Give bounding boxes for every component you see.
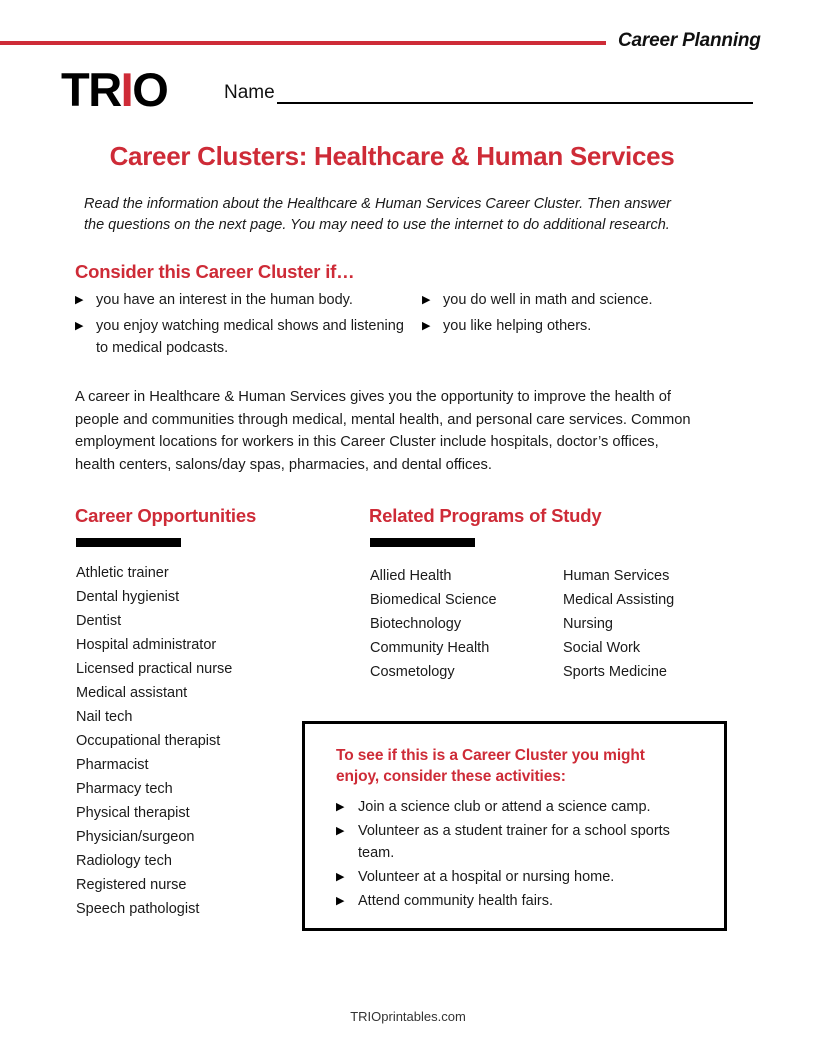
list-item: Speech pathologist	[76, 897, 326, 921]
list-item: Allied Health	[370, 564, 550, 588]
list-item: ▶ Join a science club or attend a scienc…	[336, 796, 706, 818]
activities-title: To see if this is a Career Cluster you m…	[336, 745, 686, 787]
triangle-bullet-icon: ▶	[336, 866, 344, 888]
list-item: Pharmacist	[76, 753, 326, 777]
list-item: Medical assistant	[76, 681, 326, 705]
list-item: Athletic trainer	[76, 561, 326, 585]
logo-text-part2: O	[132, 63, 167, 116]
list-item: Pharmacy tech	[76, 777, 326, 801]
consider-list-right: ▶ you do well in math and science. ▶ you…	[422, 289, 722, 341]
name-label: Name	[224, 82, 275, 104]
list-item-label: Join a science club or attend a science …	[358, 799, 651, 815]
name-input-line[interactable]	[277, 102, 753, 104]
trio-logo: TRIO	[61, 66, 167, 113]
list-item: Physician/surgeon	[76, 825, 326, 849]
header-kicker: Career Planning	[618, 30, 761, 52]
worksheet-page: Career Planning TRIO Name Career Cluster…	[0, 0, 816, 1056]
list-item: Cosmetology	[370, 660, 550, 684]
list-item: Licensed practical nurse	[76, 657, 326, 681]
triangle-bullet-icon: ▶	[422, 315, 430, 337]
list-item: Biotechnology	[370, 612, 550, 636]
list-item: Nail tech	[76, 705, 326, 729]
header-rule	[0, 41, 606, 45]
page-title: Career Clusters: Healthcare & Human Serv…	[0, 141, 784, 172]
list-item: ▶ Attend community health fairs.	[336, 890, 706, 912]
list-item: Human Services	[563, 564, 763, 588]
list-item-label: Attend community health fairs.	[358, 893, 553, 909]
list-item: Social Work	[563, 636, 763, 660]
programs-list-column-a: Allied Health Biomedical Science Biotech…	[370, 564, 550, 684]
list-item: ▶ you enjoy watching medical shows and l…	[75, 315, 405, 359]
list-item: Community Health	[370, 636, 550, 660]
intro-instructions: Read the information about the Healthcar…	[84, 194, 684, 236]
list-item: Nursing	[563, 612, 763, 636]
careers-heading-bar	[76, 538, 181, 547]
list-item: ▶ you like helping others.	[422, 315, 722, 337]
list-item: Dental hygienist	[76, 585, 326, 609]
triangle-bullet-icon: ▶	[336, 820, 344, 842]
list-item-label: you enjoy watching medical shows and lis…	[96, 318, 404, 356]
triangle-bullet-icon: ▶	[422, 289, 430, 311]
list-item: ▶ you do well in math and science.	[422, 289, 722, 311]
list-item: Registered nurse	[76, 873, 326, 897]
programs-list-column-b: Human Services Medical Assisting Nursing…	[563, 564, 763, 684]
careers-heading: Career Opportunities	[75, 505, 256, 527]
programs-heading-bar	[370, 538, 475, 547]
programs-heading: Related Programs of Study	[369, 505, 601, 527]
logo-accent-letter: I	[121, 63, 133, 116]
list-item: Sports Medicine	[563, 660, 763, 684]
list-item-label: you like helping others.	[443, 318, 591, 334]
logo-text-part1: TR	[61, 63, 121, 116]
list-item: ▶ you have an interest in the human body…	[75, 289, 405, 311]
list-item-label: Volunteer as a student trainer for a sch…	[358, 823, 670, 861]
triangle-bullet-icon: ▶	[336, 796, 344, 818]
triangle-bullet-icon: ▶	[75, 289, 83, 311]
careers-list: Athletic trainer Dental hygienist Dentis…	[76, 561, 326, 921]
activities-list: ▶ Join a science club or attend a scienc…	[336, 796, 706, 914]
list-item-label: Volunteer at a hospital or nursing home.	[358, 869, 614, 885]
list-item: Physical therapist	[76, 801, 326, 825]
list-item: Medical Assisting	[563, 588, 763, 612]
list-item-label: you have an interest in the human body.	[96, 292, 353, 308]
list-item: ▶ Volunteer at a hospital or nursing hom…	[336, 866, 706, 888]
list-item: Radiology tech	[76, 849, 326, 873]
consider-list-left: ▶ you have an interest in the human body…	[75, 289, 405, 363]
activities-callout-box: To see if this is a Career Cluster you m…	[302, 721, 727, 931]
triangle-bullet-icon: ▶	[336, 890, 344, 912]
list-item: Dentist	[76, 609, 326, 633]
triangle-bullet-icon: ▶	[75, 315, 83, 337]
list-item: Biomedical Science	[370, 588, 550, 612]
list-item-label: you do well in math and science.	[443, 292, 653, 308]
list-item: Occupational therapist	[76, 729, 326, 753]
list-item: ▶ Volunteer as a student trainer for a s…	[336, 820, 706, 864]
consider-heading: Consider this Career Cluster if…	[75, 261, 354, 283]
cluster-description: A career in Healthcare & Human Services …	[75, 386, 700, 476]
list-item: Hospital administrator	[76, 633, 326, 657]
footer-url: TRIOprintables.com	[0, 1009, 816, 1024]
